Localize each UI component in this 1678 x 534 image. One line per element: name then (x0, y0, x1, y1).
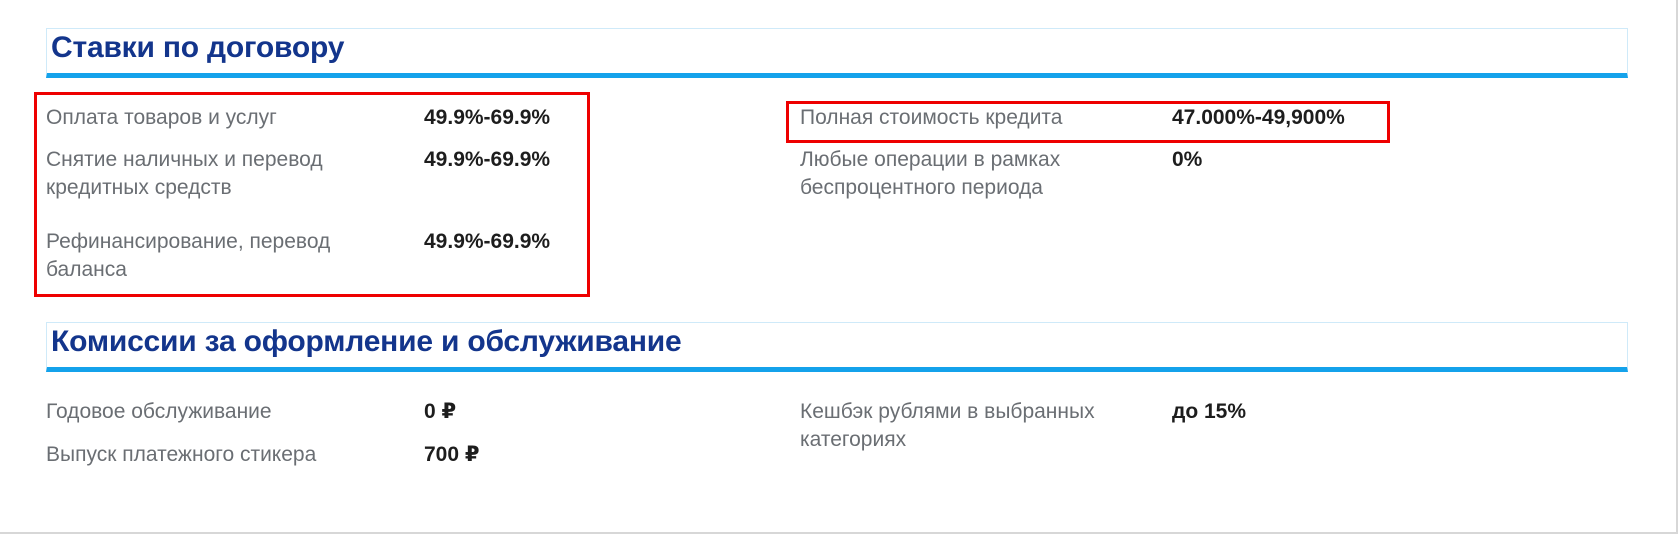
section-title-rates: Ставки по договору (47, 29, 1627, 69)
row-label: Снятие наличных и перевод кредитных сред… (46, 146, 424, 202)
table-row: Полная стоимость кредита 47.000%-49,900% (800, 104, 1345, 132)
row-value: 0 ₽ (424, 398, 456, 426)
row-label: Любые операции в рамках беспроцентного п… (800, 146, 1172, 202)
section-title-fees: Комиссии за оформление и обслуживание (47, 323, 1627, 363)
document-page: Ставки по договору Оплата товаров и услу… (0, 0, 1678, 534)
table-row: Выпуск платежного стикера 700 ₽ (46, 441, 479, 469)
table-row: Годовое обслуживание 0 ₽ (46, 398, 456, 426)
row-value: 47.000%-49,900% (1172, 104, 1345, 132)
section-header-rates: Ставки по договору (46, 28, 1628, 78)
table-row: Оплата товаров и услуг 49.9%-69.9% (46, 104, 550, 132)
table-row: Рефинансирование, перевод баланса 49.9%-… (46, 228, 550, 284)
row-label: Кешбэк рублями в выбранных категориях (800, 398, 1172, 454)
row-value: 49.9%-69.9% (424, 228, 550, 256)
table-row: Любые операции в рамках беспроцентного п… (800, 146, 1202, 202)
row-label: Полная стоимость кредита (800, 104, 1172, 132)
row-label: Годовое обслуживание (46, 398, 424, 426)
row-value: 49.9%-69.9% (424, 146, 550, 174)
row-label: Выпуск платежного стикера (46, 441, 424, 469)
row-value: 700 ₽ (424, 441, 479, 469)
row-value: 0% (1172, 146, 1202, 174)
row-label: Рефинансирование, перевод баланса (46, 228, 424, 284)
row-value: 49.9%-69.9% (424, 104, 550, 132)
section-header-fees: Комиссии за оформление и обслуживание (46, 322, 1628, 372)
table-row: Кешбэк рублями в выбранных категориях до… (800, 398, 1246, 454)
row-label: Оплата товаров и услуг (46, 104, 424, 132)
row-value: до 15% (1172, 398, 1246, 426)
table-row: Снятие наличных и перевод кредитных сред… (46, 146, 550, 202)
